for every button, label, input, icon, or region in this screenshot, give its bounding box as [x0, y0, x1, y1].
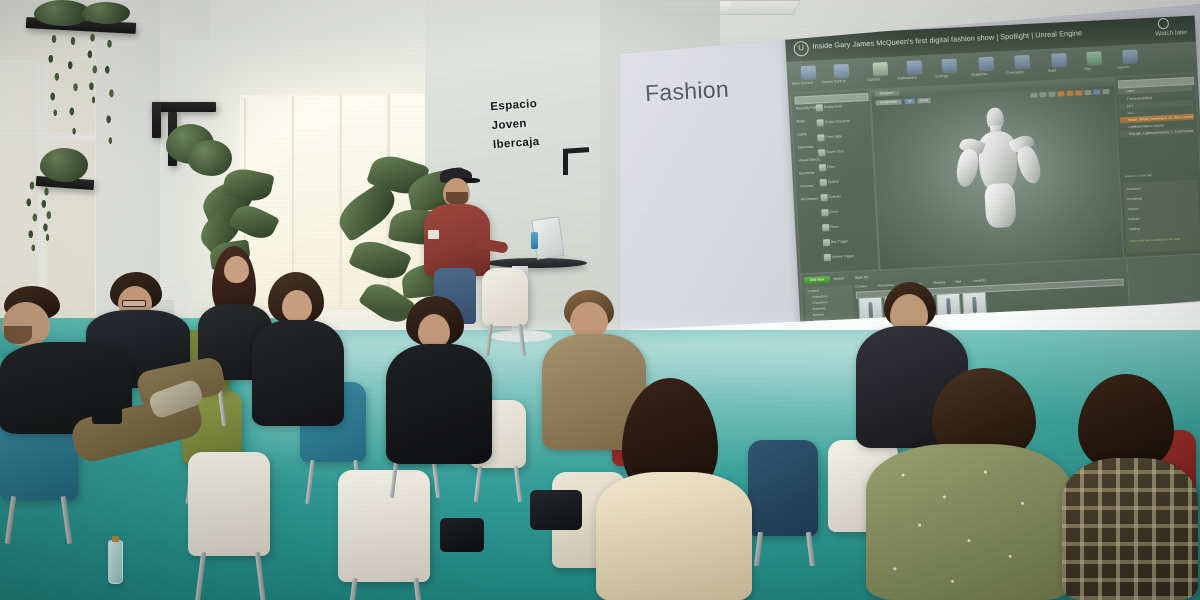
- presentation-room-photo: Espacio Joven Ibercaja: [0, 0, 1200, 600]
- place-actors-item[interactable]: Cone: [829, 210, 837, 214]
- model-right-sleeve: [1014, 144, 1044, 186]
- unreal-viewport[interactable]: Viewport 1 Perspective Lit Show: [870, 77, 1125, 271]
- select-mode-button[interactable]: [1030, 93, 1037, 98]
- character-icon: [816, 119, 823, 126]
- details-section[interactable]: Rendering: [1127, 196, 1141, 201]
- hanging-vine-plant: [82, 2, 130, 24]
- details-panel[interactable]: Transform Rendering Physics Collision Li…: [1123, 180, 1200, 254]
- toolbar-label: Blueprints: [971, 72, 987, 77]
- place-actors-category[interactable]: Volumes: [800, 184, 814, 189]
- model-skirt: [984, 183, 1016, 228]
- phone[interactable]: [92, 406, 122, 424]
- embedded-video-player[interactable]: U Inside Gary James McQueen's first digi…: [785, 16, 1200, 336]
- actor-icon: [816, 104, 823, 111]
- toolbar-label: Marketplace: [897, 75, 917, 80]
- bag: [440, 518, 484, 552]
- window-mullion: [0, 135, 95, 139]
- details-note: Click to edit and set values for this ac…: [1129, 237, 1180, 244]
- place-actors-category[interactable]: Geometry: [799, 171, 815, 176]
- details-section[interactable]: Collision: [1128, 217, 1140, 222]
- toolbar-label: Cinematics: [1006, 70, 1024, 75]
- attendee-center-left: [252, 272, 346, 442]
- hanging-vine-plant: [40, 186, 53, 242]
- hanging-vine-plant: [24, 178, 40, 254]
- place-actors-category[interactable]: All Classes: [801, 197, 819, 202]
- world-outliner-panel[interactable]: Label TheLevel (Editor) Lit 1 Lit 2 mode…: [1114, 73, 1200, 259]
- scale-mode-button[interactable]: [1057, 91, 1064, 96]
- chair-navy[interactable]: [748, 440, 822, 560]
- import-button[interactable]: Import: [834, 275, 844, 282]
- save-all-button[interactable]: Save All: [855, 274, 868, 282]
- attendee-mid-black-top: [386, 296, 496, 486]
- hanging-vine-plant: [46, 30, 62, 120]
- attendee-front-left-beard: [0, 286, 200, 516]
- rotate-mode-button[interactable]: [1048, 92, 1055, 97]
- shelf-bush-plant: [40, 148, 88, 182]
- place-actors-category[interactable]: Lights: [797, 132, 807, 136]
- unreal-engine-icon: U: [793, 41, 809, 57]
- place-actors-category[interactable]: Cinematic: [798, 145, 814, 150]
- wall-shelf: [152, 102, 216, 112]
- toolbar-label: Save Current: [791, 81, 812, 86]
- save-icon[interactable]: [801, 66, 817, 80]
- place-actors-item[interactable]: Box Trigger: [831, 239, 849, 244]
- marketplace-icon[interactable]: [907, 60, 923, 74]
- slide-title: Fashion: [644, 76, 729, 107]
- source-control-icon[interactable]: [834, 64, 850, 78]
- grid-snap-button[interactable]: [1084, 90, 1091, 95]
- place-actors-category[interactable]: Basic: [796, 119, 805, 123]
- add-new-button[interactable]: Add New: [804, 276, 830, 284]
- watch-later-button[interactable]: Watch later: [1155, 29, 1187, 38]
- launch-icon[interactable]: [1122, 50, 1138, 64]
- camera-speed-button[interactable]: [1102, 89, 1109, 94]
- attendee-olive-dotted-sweater: [866, 368, 1076, 600]
- translate-mode-button[interactable]: [1039, 92, 1046, 97]
- content-tree-row[interactable]: Materials: [812, 306, 825, 311]
- settings-icon[interactable]: [941, 59, 957, 73]
- sphere-trigger-icon: [824, 254, 831, 261]
- build-icon[interactable]: [1051, 53, 1067, 67]
- place-actors-item[interactable]: Cube: [827, 165, 835, 169]
- place-actors-item[interactable]: Empty Actor: [824, 104, 842, 109]
- water-bottle: [531, 232, 538, 249]
- venue-sign: Espacio Joven Ibercaja: [490, 94, 556, 164]
- box-trigger-icon: [823, 239, 830, 246]
- plane-icon: [822, 224, 829, 231]
- outliner-status: 6 actors (1 selected): [1123, 170, 1197, 180]
- hanging-vine-plant: [104, 32, 115, 150]
- model-left-sleeve: [954, 148, 981, 189]
- place-actors-item[interactable]: Cylinder: [829, 194, 842, 199]
- toolbar-label: Settings: [935, 74, 948, 79]
- content-tree-row[interactable]: Meshes: [813, 312, 824, 317]
- bag: [530, 490, 582, 530]
- toolbar-label: Source Control: [821, 79, 845, 84]
- player-start-icon: [818, 149, 825, 156]
- attendee-woman-cream-sweater: [596, 378, 756, 600]
- hanging-vine-plant: [86, 30, 99, 106]
- surface-snap-button[interactable]: [1075, 90, 1082, 95]
- cylinder-icon: [820, 194, 827, 201]
- light-icon: [817, 134, 824, 141]
- toolbar-label: Content: [867, 77, 880, 82]
- sleeve-patch: [428, 230, 439, 239]
- content-tree-row[interactable]: Animations: [812, 294, 828, 299]
- hanging-vine-plant: [66, 30, 80, 140]
- world-space-button[interactable]: [1066, 91, 1073, 96]
- details-section[interactable]: Lighting: [1129, 227, 1140, 232]
- cube-icon: [819, 164, 826, 171]
- attendee-plaid-shirt: [1062, 374, 1200, 600]
- perspective-dropdown[interactable]: Perspective: [876, 99, 902, 105]
- toolbar-label: Launch: [1117, 65, 1129, 70]
- garment-3d-model: [958, 106, 1039, 241]
- content-icon[interactable]: [873, 62, 889, 76]
- show-dropdown[interactable]: Show: [918, 98, 931, 104]
- cone-icon: [821, 209, 828, 216]
- rotation-snap-button[interactable]: [1093, 89, 1100, 94]
- toolbar-label: Play: [1084, 67, 1091, 71]
- sphere-icon: [820, 179, 827, 186]
- content-tree-row[interactable]: Characters: [812, 300, 828, 305]
- details-section[interactable]: Physics: [1128, 207, 1139, 212]
- blueprint-icon[interactable]: [978, 57, 994, 71]
- place-actors-item[interactable]: Sphere Trigger: [832, 254, 855, 259]
- place-actors-panel[interactable]: Recently Placed Basic Lights Cinematic V…: [790, 89, 880, 275]
- place-actors-item[interactable]: Plane: [830, 225, 839, 229]
- place-actors-search-input[interactable]: [794, 93, 868, 105]
- lit-dropdown[interactable]: Lit: [905, 99, 915, 104]
- place-actors-category[interactable]: Visual Effects: [799, 157, 820, 162]
- place-actors-item[interactable]: Player Start: [826, 149, 844, 154]
- viewport-tab[interactable]: Viewport 1: [875, 90, 899, 96]
- clock-icon: [1158, 18, 1170, 30]
- play-icon[interactable]: [1086, 51, 1102, 65]
- content-tree-row[interactable]: Content: [808, 289, 819, 294]
- beard: [4, 326, 32, 344]
- place-actors-item[interactable]: Point Light: [825, 134, 841, 139]
- place-actors-item[interactable]: Sphere: [828, 180, 839, 185]
- breadcrumb-item[interactable]: Level 01: [973, 278, 986, 283]
- venue-sign-line-3: Ibercaja: [492, 132, 555, 155]
- place-actors-item[interactable]: Empty Character: [825, 119, 851, 124]
- details-section[interactable]: Transform: [1127, 187, 1141, 192]
- wall-shelf: [152, 102, 161, 138]
- toolbar-label: Build: [1048, 69, 1056, 73]
- water-bottle: [108, 540, 123, 584]
- wall-bracket: [563, 153, 568, 175]
- cinematics-icon[interactable]: [1014, 55, 1030, 69]
- chair-white[interactable]: [188, 452, 274, 600]
